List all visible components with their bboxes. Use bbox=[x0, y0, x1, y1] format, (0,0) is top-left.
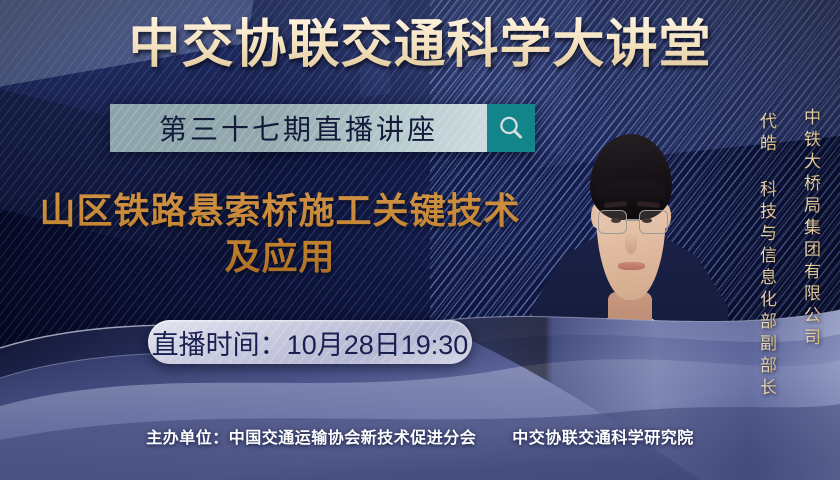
organizer-secondary: 中交协联交通科学研究院 bbox=[512, 430, 694, 447]
portrait-nose bbox=[625, 232, 637, 254]
episode-label: 第三十七期直播讲座 bbox=[159, 108, 438, 148]
search-icon bbox=[496, 113, 526, 143]
glasses-bridge bbox=[625, 219, 639, 221]
glasses-lens-right bbox=[639, 210, 668, 234]
lecture-topic: 山区铁路悬索桥施工关键技术 及应用 bbox=[20, 188, 540, 280]
webinar-poster: 中交协联交通科学大讲堂 第三十七期直播讲座 山区铁路悬索桥施工关键技术 及应用 … bbox=[0, 0, 840, 480]
page-title: 中交协联交通科学大讲堂 bbox=[0, 16, 840, 74]
portrait-hair bbox=[590, 134, 672, 220]
broadcast-time-label: 直播时间：10月28日19:30 bbox=[152, 323, 469, 362]
episode-banner-body: 第三十七期直播讲座 bbox=[110, 104, 487, 152]
broadcast-time-badge: 直播时间：10月28日19:30 bbox=[148, 320, 472, 364]
lecture-topic-line-1: 山区铁路悬索桥施工关键技术 bbox=[20, 188, 540, 234]
speaker-name-title: 代皓 科技与信息化部副部长 bbox=[755, 112, 778, 400]
portrait-mouth bbox=[618, 262, 645, 270]
organizer-primary: 主办单位：中国交通运输协会新技术促进分会 bbox=[146, 430, 476, 447]
search-button[interactable] bbox=[487, 104, 535, 152]
episode-banner: 第三十七期直播讲座 bbox=[110, 104, 535, 152]
glasses-lens-left bbox=[598, 210, 627, 234]
speaker-organization: 中铁大桥局集团有限公司 bbox=[799, 108, 822, 350]
lecture-topic-line-2: 及应用 bbox=[20, 234, 540, 280]
organizer-footer: 主办单位：中国交通运输协会新技术促进分会 中交协联交通科学研究院 bbox=[0, 424, 840, 448]
portrait-glasses bbox=[598, 210, 666, 234]
